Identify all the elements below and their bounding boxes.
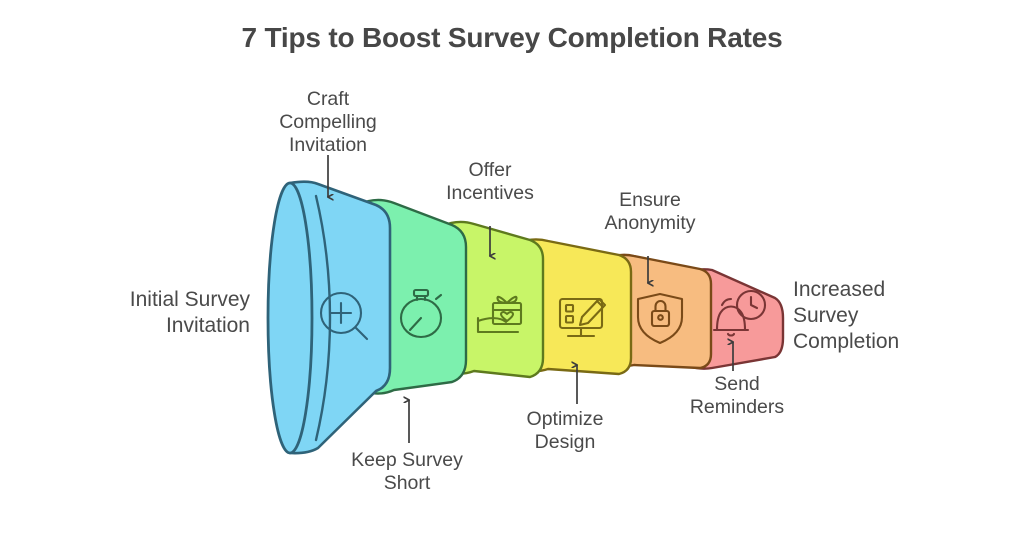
stage-label-send-reminders: Send Reminders xyxy=(652,373,822,419)
funnel-diagram xyxy=(0,0,1024,536)
stage-label-craft-compelling-invitation: Craft Compelling Invitation xyxy=(243,88,413,157)
exit-label: Increased Survey Completion xyxy=(793,277,1003,355)
stage-label-ensure-anonymity: Ensure Anonymity xyxy=(565,189,735,235)
infographic-canvas: 7 Tips to Boost Survey Completion Rates xyxy=(0,0,1024,536)
stage-label-keep-survey-short: Keep Survey Short xyxy=(322,449,492,495)
stage-label-optimize-design: Optimize Design xyxy=(480,408,650,454)
entry-label: Initial Survey Invitation xyxy=(40,287,250,339)
stage-label-offer-incentives: Offer Incentives xyxy=(405,159,575,205)
